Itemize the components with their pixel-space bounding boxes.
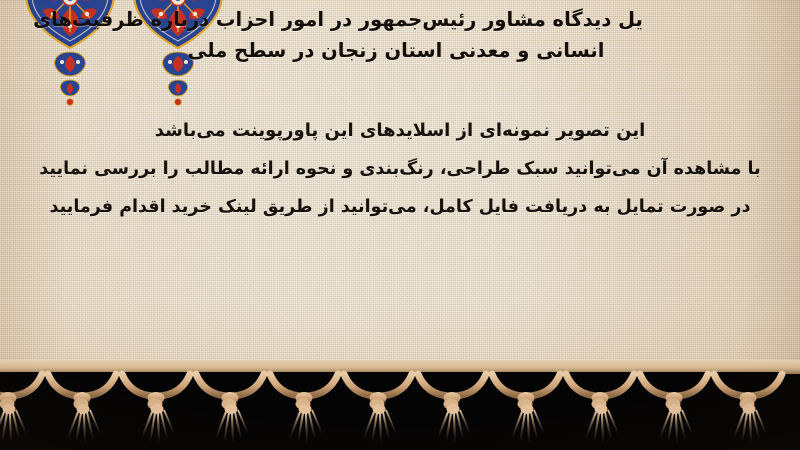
slide-body: این تصویر نمونه‌ای از اسلایدهای این پاور… xyxy=(0,112,800,226)
slide-body-line-2: با مشاهده آن می‌توانید سبک طراحی، رنگ‌بن… xyxy=(0,150,800,188)
carpet-fringe xyxy=(0,360,800,450)
carpet-fringe-tassels xyxy=(0,372,782,443)
slide-title-line-1: یل دیدگاه مشاور رئیس‌جمهور در امور احزاب… xyxy=(0,4,676,35)
slide-title: یل دیدگاه مشاور رئیس‌جمهور در امور احزاب… xyxy=(0,4,792,66)
carpet-fringe-svg xyxy=(0,360,800,450)
slide-title-line-2: انسانی و معدنی استان زنجان در سطح ملی xyxy=(0,35,792,66)
slide-body-line-1: این تصویر نمونه‌ای از اسلایدهای این پاور… xyxy=(0,112,800,150)
slide-body-line-3: در صورت تمایل به دریافت فایل کامل، می‌تو… xyxy=(0,188,800,226)
slide-canvas: یل دیدگاه مشاور رئیس‌جمهور در امور احزاب… xyxy=(0,0,800,450)
